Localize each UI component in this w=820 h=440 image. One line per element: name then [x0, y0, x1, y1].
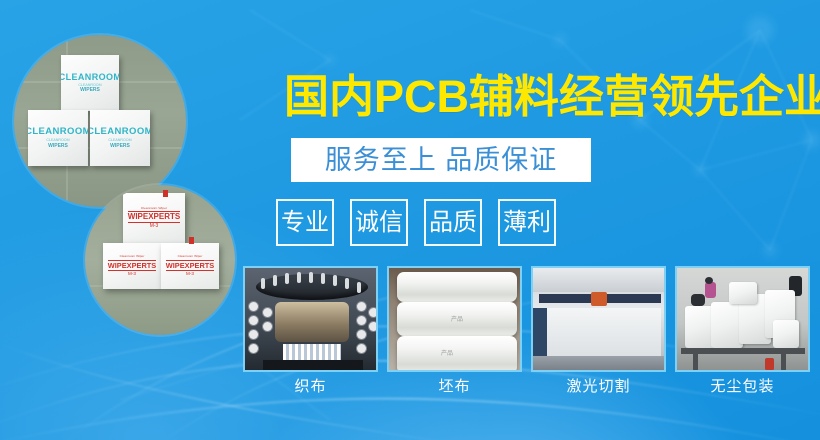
package-brand: WIPEXPERTS [166, 260, 214, 271]
process-caption: 坯布 [387, 379, 522, 394]
keyword-box-1: 专业 [276, 199, 334, 246]
package-tiny: Cleanroom Wiper [120, 256, 145, 259]
wipexperts-package: Cleanroom Wiper WIPEXPERTS M-3 [103, 243, 161, 289]
keyword-box-2: 诚信 [350, 199, 408, 246]
promotional-banner: CLEANROOM CLEANROOM WIPERS CLEANROOM CLE… [0, 0, 820, 440]
cleanroom-package: CLEANROOM CLEANROOM WIPERS [28, 110, 88, 166]
package-brand: CLEANROOM [28, 127, 88, 137]
cleanroom-wipes-circle: CLEANROOM CLEANROOM WIPERS CLEANROOM CLE… [14, 35, 186, 207]
fabric-rolls-photo: 产品 产品 [389, 268, 520, 370]
subtitle-text: 服务至上 品质保证 [325, 147, 558, 174]
cleanroom-package: CLEANROOM CLEANROOM WIPERS [90, 110, 150, 166]
package-sub2: WIPERS [80, 88, 100, 93]
process-photo-frame: 产品 产品 [387, 266, 522, 372]
wipexperts-package: Cleanroom Wiper WIPEXPERTS M-3 [161, 243, 219, 289]
package-sub1: CLEANROOM [46, 139, 69, 143]
process-cell-weaving: 织布 [243, 266, 378, 394]
process-photo-frame [243, 266, 378, 372]
process-photo-frame [675, 266, 810, 372]
cleanroom-photo: CLEANROOM CLEANROOM WIPERS CLEANROOM CLE… [14, 35, 186, 207]
package-sub1: CLEANROOM [108, 139, 131, 143]
keyword-list: 专业 诚信 品质 薄利 [276, 199, 556, 246]
knitting-machine-photo [245, 268, 376, 370]
package-mark: M-3 [150, 224, 159, 229]
keyword-box-4: 薄利 [498, 199, 556, 246]
process-caption: 无尘包装 [675, 379, 810, 394]
package-mark: M-3 [186, 272, 194, 277]
process-cell-packaging: 无尘包装 [675, 266, 810, 394]
wipexperts-package: Cleanroom Wiper WIPEXPERTS M-3 [123, 193, 185, 243]
package-brand: WIPEXPERTS [128, 211, 180, 223]
package-sub2: WIPERS [48, 144, 68, 149]
process-caption: 激光切割 [531, 379, 666, 394]
wipexperts-photo: Cleanroom Wiper WIPEXPERTS M-3 Cleanroom… [85, 185, 235, 335]
process-caption: 织布 [243, 379, 378, 394]
package-brand: WIPEXPERTS [108, 260, 156, 271]
headline-text: 国内PCB辅料经营领先企业 [284, 74, 820, 119]
subtitle-box: 服务至上 品质保证 [291, 138, 591, 182]
laser-cutting-photo [533, 268, 664, 370]
process-cell-laser: 激光切割 [531, 266, 666, 394]
process-photo-frame [531, 266, 666, 372]
cleanroom-packaging-photo [677, 268, 808, 370]
cleanroom-package: CLEANROOM CLEANROOM WIPERS [61, 55, 119, 111]
package-tiny: Cleanroom Wiper [178, 256, 203, 259]
package-tiny: Cleanroom Wiper [141, 207, 167, 210]
process-photo-row: 织布 产品 产品 坯布 [243, 266, 810, 394]
package-mark: M-3 [128, 272, 136, 277]
package-sub2: WIPERS [110, 144, 130, 149]
package-brand: CLEANROOM [61, 73, 119, 82]
keyword-box-3: 品质 [424, 199, 482, 246]
package-brand: CLEANROOM [90, 127, 150, 137]
process-cell-greige: 产品 产品 坯布 [387, 266, 522, 394]
wipexperts-circle: Cleanroom Wiper WIPEXPERTS M-3 Cleanroom… [85, 185, 235, 335]
